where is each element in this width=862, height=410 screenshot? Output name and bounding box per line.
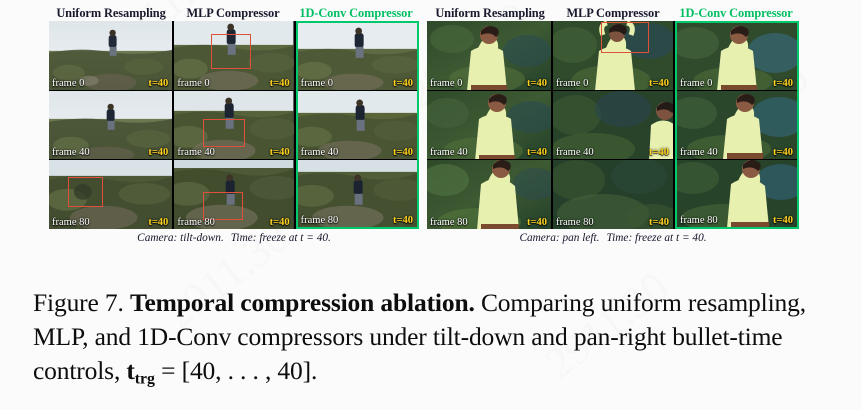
header-uniform-resampling-left: Uniform Resampling: [49, 7, 173, 20]
column-mlp-compressor-right: frame 0 t=40 frame 40 t=40: [553, 21, 673, 229]
time-label: t=40: [527, 217, 547, 228]
frame-cell: frame 40 t=40: [553, 91, 673, 161]
subcaption-time: Time: freeze at t = 40.: [231, 232, 331, 244]
header-mlp-compressor-left: MLP Compressor: [173, 7, 293, 20]
math-variable-t: t: [126, 356, 134, 385]
subcaption-camera: Camera: tilt-down.: [137, 232, 224, 244]
frame-cell: frame 40 t=40: [49, 91, 172, 161]
frame-label: frame 80: [52, 217, 90, 228]
column-uniform-resampling-left: frame 0 t=40 fram: [49, 21, 172, 229]
frame-cell: frame 0 t=40: [553, 21, 673, 91]
time-label: t=40: [270, 78, 290, 89]
frame-cell: frame 80 t=40: [174, 160, 293, 229]
figure-bold-title: Temporal compression ablation.: [130, 288, 475, 317]
frame-label: frame 40: [430, 147, 468, 158]
time-label: t=40: [527, 78, 547, 89]
frame-cell: frame 40 t=40: [677, 91, 797, 159]
frame-cell: frame 40 t=40: [174, 91, 293, 161]
frame-label: frame 40: [680, 147, 718, 158]
math-value: [40, . . . , 40].: [182, 356, 318, 385]
time-label: t=40: [270, 217, 290, 228]
frame-label: frame 0: [430, 78, 462, 89]
frame-label: frame 0: [556, 78, 588, 89]
frame-label: frame 40: [177, 147, 215, 158]
figure-body-line1: Comparing uniform: [481, 288, 682, 317]
frame-cell: frame 0 t=40: [298, 23, 417, 91]
frame-cell: frame 80 t=40: [49, 160, 172, 229]
column-1dconv-compressor-right: frame 0 t=40: [675, 21, 799, 229]
panel-tilt-down: Uniform Resampling MLP Compressor 1D-Con…: [49, 0, 419, 245]
frame-label: frame 0: [52, 78, 84, 89]
header-uniform-resampling-right: Uniform Resampling: [427, 7, 553, 20]
panel-pan-left: Uniform Resampling MLP Compressor 1D-Con…: [427, 0, 799, 245]
frame-cell: frame 0 t=40: [677, 23, 797, 91]
time-label: t=40: [773, 78, 793, 89]
time-label: t=40: [393, 215, 413, 226]
time-label: t=40: [393, 78, 413, 89]
column-headers-right: Uniform Resampling MLP Compressor 1D-Con…: [427, 0, 799, 20]
frame-cell: frame 80 t=40: [553, 160, 673, 229]
frame-label: frame 40: [556, 147, 594, 158]
math-subscript-trg: trg: [135, 370, 155, 387]
frame-label: frame 80: [177, 217, 215, 228]
time-label: t=40: [527, 147, 547, 158]
frame-label: frame 40: [52, 147, 90, 158]
frame-label: frame 0: [177, 78, 209, 89]
frame-cell: frame 0 t=40: [427, 21, 551, 91]
header-1dconv-compressor-left: 1D-Conv Compressor: [293, 7, 419, 20]
subcaption-right: Camera: pan left.Time: freeze at t = 40.: [427, 232, 799, 245]
frame-label: frame 80: [301, 215, 339, 226]
subcaption-camera: Camera: pan left.: [519, 232, 599, 244]
column-mlp-compressor-left: frame 0 t=40: [174, 21, 293, 229]
figure-number: Figure 7.: [33, 288, 124, 317]
frame-label: frame 40: [301, 147, 339, 158]
header-mlp-compressor-right: MLP Compressor: [553, 7, 673, 20]
time-label: t=40: [270, 147, 290, 158]
subcaption-time: Time: freeze at t = 40.: [606, 232, 706, 244]
frame-cell: frame 0 t=40: [174, 21, 293, 91]
image-grid-right: frame 0 t=40: [427, 21, 799, 229]
frame-cell: frame 80 t=40: [298, 160, 417, 227]
header-1dconv-compressor-right: 1D-Conv Compressor: [673, 7, 799, 20]
frame-cell: frame 40 t=40: [427, 91, 551, 161]
column-1dconv-compressor-left: frame 0 t=40 fram: [296, 21, 419, 229]
time-label: t=40: [148, 147, 168, 158]
frame-cell: frame 80 t=40: [677, 160, 797, 227]
frame-label: frame 80: [556, 217, 594, 228]
time-label: t=40: [649, 78, 669, 89]
time-label: t=40: [148, 78, 168, 89]
frame-label: frame 80: [680, 215, 718, 226]
time-label: t=40: [148, 217, 168, 228]
image-grid-left: frame 0 t=40 fram: [49, 21, 419, 229]
frame-label: frame 0: [680, 78, 712, 89]
time-label: t=40: [649, 217, 669, 228]
figure-image-area: Uniform Resampling MLP Compressor 1D-Con…: [0, 0, 862, 258]
time-label: t=40: [773, 147, 793, 158]
column-uniform-resampling-right: frame 0 t=40: [427, 21, 551, 229]
frame-label: frame 0: [301, 78, 333, 89]
math-equals: =: [155, 356, 182, 385]
frame-label: frame 80: [430, 217, 468, 228]
frame-cell: frame 0 t=40: [49, 21, 172, 91]
frame-cell: frame 80 t=40: [427, 160, 551, 229]
time-label: t=40: [393, 147, 413, 158]
frame-cell: frame 40 t=40: [298, 91, 417, 159]
figure-caption: Figure 7. Temporal compression ablation.…: [33, 286, 833, 396]
subcaption-left: Camera: tilt-down.Time: freeze at t = 40…: [49, 232, 419, 245]
time-label: t=40: [773, 215, 793, 226]
time-label: t=40: [649, 147, 669, 158]
column-headers-left: Uniform Resampling MLP Compressor 1D-Con…: [49, 0, 419, 20]
